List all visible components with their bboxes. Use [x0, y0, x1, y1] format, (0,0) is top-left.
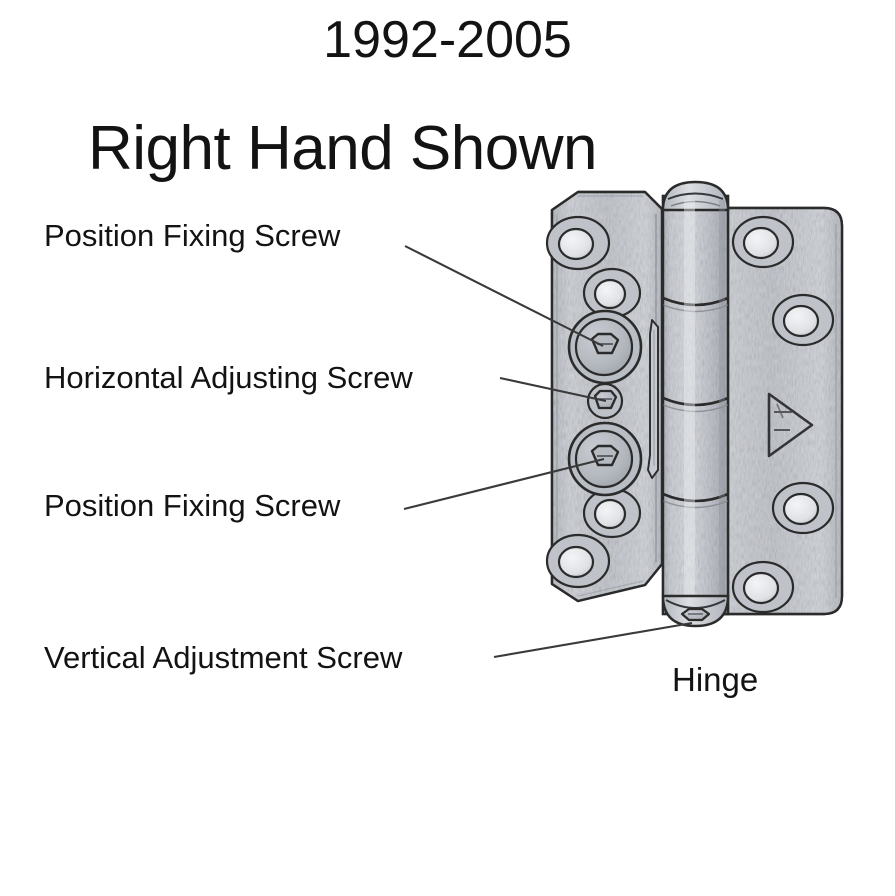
barrel-top-cap: [663, 182, 728, 210]
label-hinge: Hinge: [672, 663, 758, 696]
diagram-canvas: 1992-2005 Right Hand Shown Position Fixi…: [0, 0, 895, 896]
label-position-fixing-screw-top: Position Fixing Screw: [44, 220, 340, 251]
left-leaf-hole-top: [547, 217, 609, 269]
position-fixing-screw-top[interactable]: [569, 311, 641, 383]
page-title-year: 1992-2005: [0, 14, 895, 66]
leader-vertical-adjustment: [494, 623, 692, 657]
left-leaf-hole-lower-mid: [584, 489, 640, 537]
label-position-fixing-screw-bottom: Position Fixing Screw: [44, 490, 340, 521]
left-leaf: [547, 188, 668, 606]
position-fixing-screw-bottom[interactable]: [569, 423, 641, 495]
right-leaf-hole-top: [733, 217, 793, 267]
left-leaf-hook-detail: [648, 320, 658, 478]
left-leaf-hole-bottom: [547, 535, 609, 587]
hinge-knuckle-barrel: [660, 182, 732, 626]
page-subtitle-hand: Right Hand Shown: [88, 118, 597, 180]
right-leaf-hole-bottom: [733, 562, 793, 612]
right-leaf-hole-lower: [773, 483, 833, 533]
label-vertical-adjustment-screw: Vertical Adjustment Screw: [44, 642, 402, 673]
right-leaf-hole-upper: [773, 295, 833, 345]
label-horizontal-adjusting-screw: Horizontal Adjusting Screw: [44, 362, 413, 393]
vertical-adjustment-screw[interactable]: [682, 609, 709, 620]
left-leaf-hole-upper-mid: [584, 269, 640, 317]
